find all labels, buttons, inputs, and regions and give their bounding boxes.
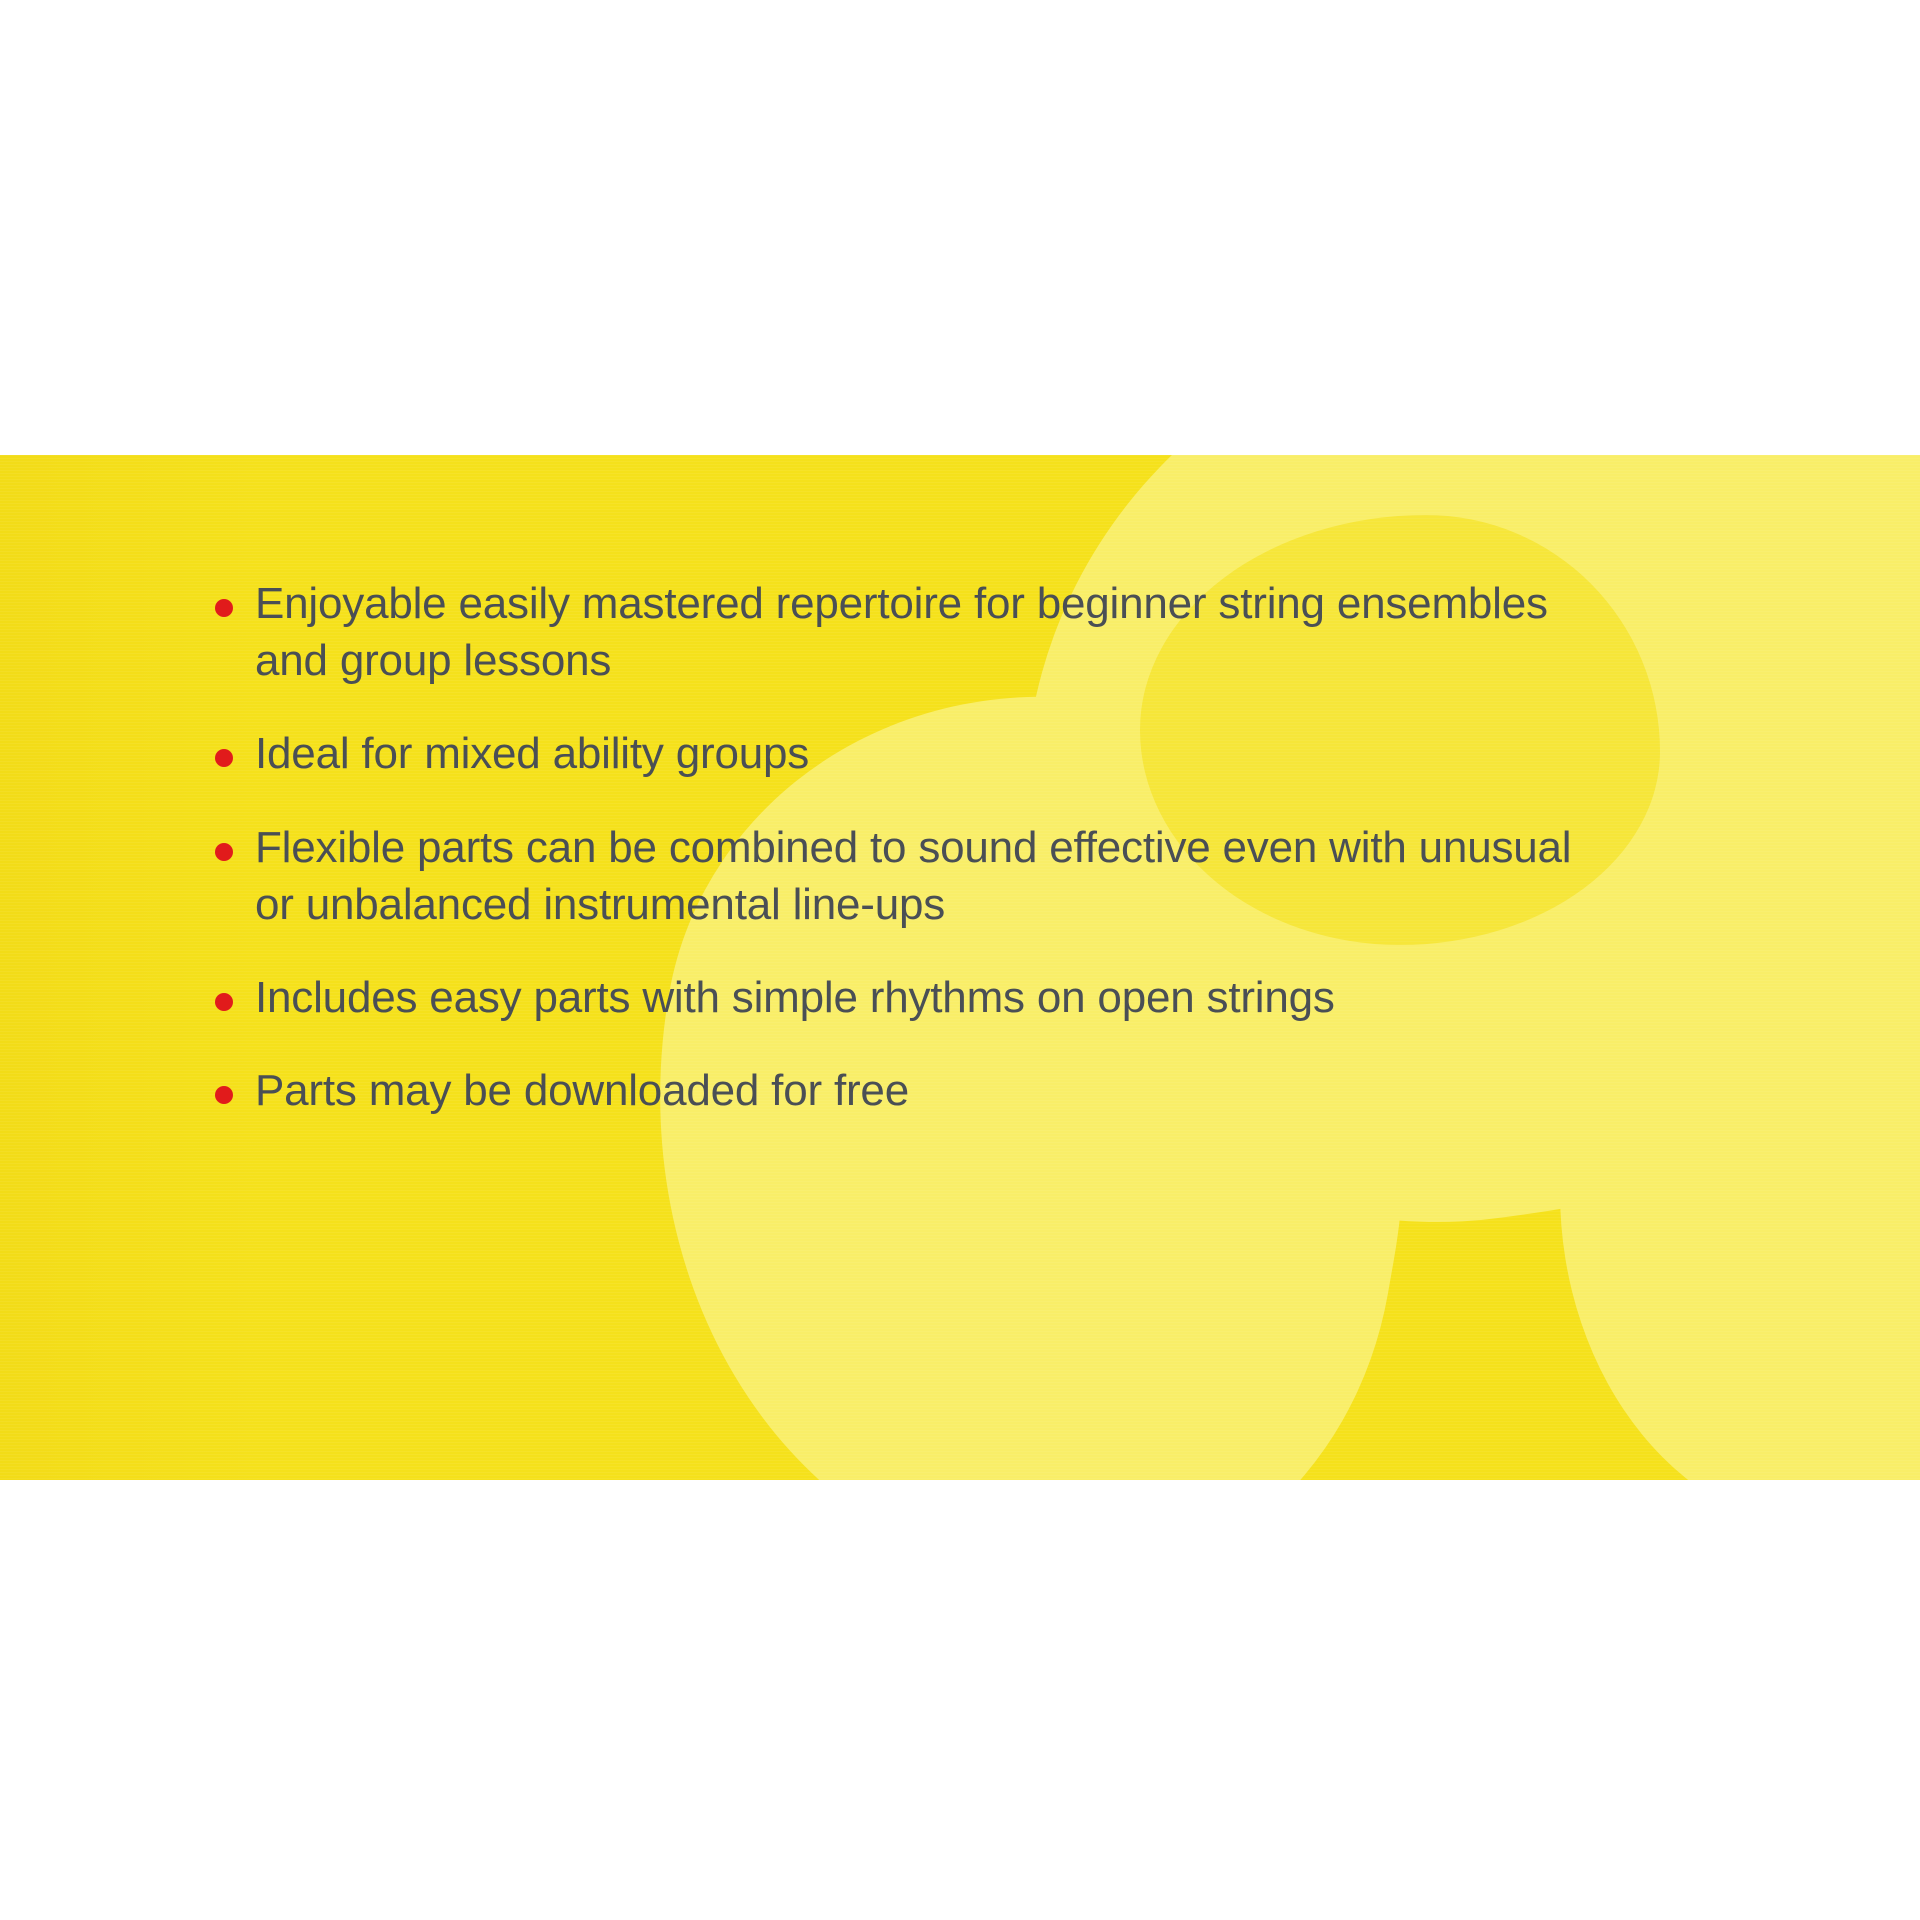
yellow-banner: Enjoyable easily mastered repertoire for… (0, 455, 1920, 1480)
list-item: Includes easy parts with simple rhythms … (215, 969, 1685, 1026)
list-item: Flexible parts can be combined to sound … (215, 819, 1685, 933)
bullet-dot-icon (215, 1086, 233, 1104)
list-item-text: Ideal for mixed ability groups (255, 725, 809, 782)
bullet-dot-icon (215, 749, 233, 767)
list-item-text: Enjoyable easily mastered repertoire for… (255, 575, 1615, 689)
page-canvas: Enjoyable easily mastered repertoire for… (0, 0, 1920, 1920)
list-item-text: Includes easy parts with simple rhythms … (255, 969, 1335, 1026)
list-item: Enjoyable easily mastered repertoire for… (215, 575, 1685, 689)
list-item: Parts may be downloaded for free (215, 1062, 1685, 1119)
bullet-dot-icon (215, 993, 233, 1011)
bullet-dot-icon (215, 599, 233, 617)
list-item-text: Parts may be downloaded for free (255, 1062, 909, 1119)
feature-bullet-list: Enjoyable easily mastered repertoire for… (215, 575, 1685, 1155)
list-item: Ideal for mixed ability groups (215, 725, 1685, 782)
list-item-text: Flexible parts can be combined to sound … (255, 819, 1615, 933)
bullet-dot-icon (215, 843, 233, 861)
